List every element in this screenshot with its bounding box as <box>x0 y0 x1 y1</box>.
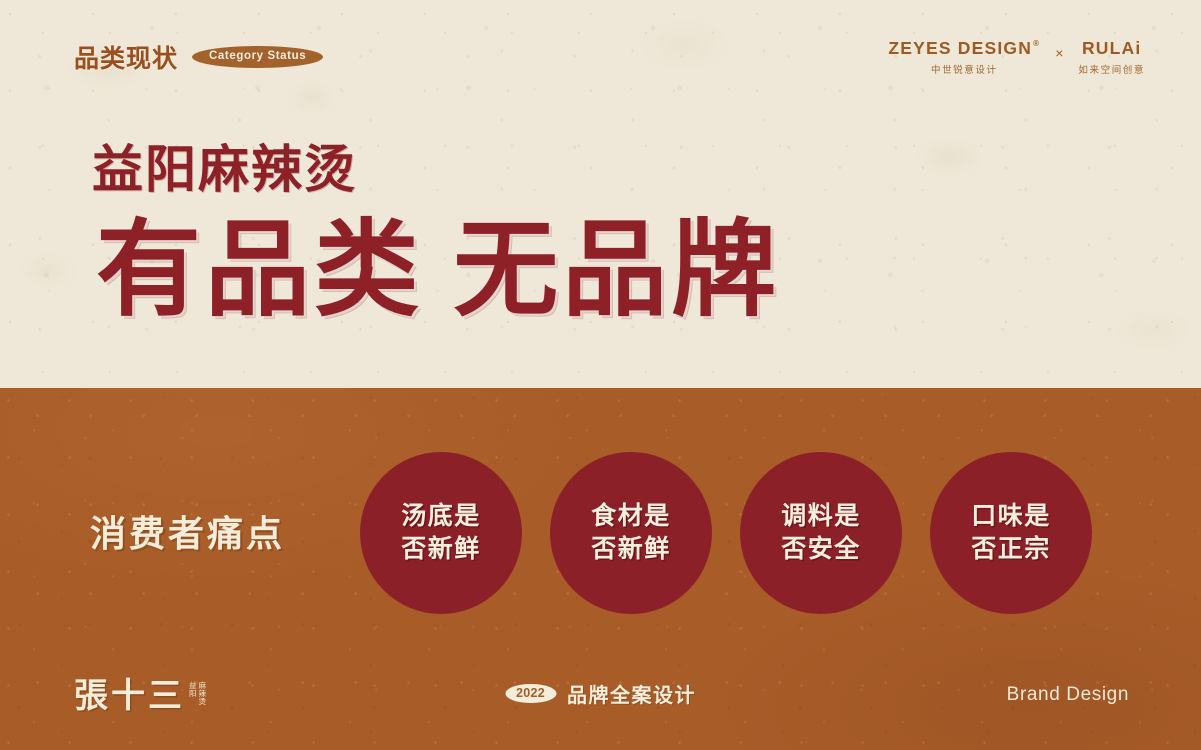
logo-lockup: ZEYES DESIGN ® 中世锐意设计 × RULAi 如来空间创意 <box>888 40 1145 76</box>
hero-headline: 有品类 无品牌 <box>96 218 780 323</box>
pain-point-circle: 汤底是 否新鲜 <box>360 452 522 614</box>
footer-year-badge: 2022 <box>505 684 556 704</box>
logo-cross-separator-icon: × <box>1055 45 1063 70</box>
footer-center-group: 2022 品牌全案设计 <box>505 679 696 708</box>
pain-point-line-1: 调料是 <box>781 500 861 533</box>
pain-point-circle: 调料是 否安全 <box>740 452 902 614</box>
pain-points-circle-group: 汤底是 否新鲜 食材是 否新鲜 调料是 否安全 口味是 否正宗 <box>360 452 1092 614</box>
pain-point-line-1: 汤底是 <box>401 500 481 533</box>
brand-logo-text: 張十三 <box>74 680 185 714</box>
logo-rulai-subtitle: 如来空间创意 <box>1078 62 1145 76</box>
brand-logo-vertical-tagline: 益阳 麻辣烫 <box>189 682 206 706</box>
footer-right-label: Brand Design <box>1007 684 1129 706</box>
brand-tagline-column-1: 益阳 <box>189 682 197 706</box>
footer-center-label: 品牌全案设计 <box>567 679 696 708</box>
logo-zeyes-wordmark: ZEYES DESIGN ® <box>888 40 1040 58</box>
pain-point-line-1: 食材是 <box>591 500 671 533</box>
pain-points-label: 消费者痛点 <box>90 505 285 557</box>
pain-point-line-2: 否新鲜 <box>591 533 671 566</box>
logo-zeyes-subtitle: 中世锐意设计 <box>931 62 998 76</box>
registered-trademark-icon: ® <box>1033 40 1040 48</box>
hero-subtitle: 益阳麻辣烫 <box>92 128 357 202</box>
pain-point-line-2: 否正宗 <box>971 533 1051 566</box>
kicker-english-badge: Category Status <box>192 46 323 69</box>
slide-header: 品类现状 Category Status ZEYES DESIGN ® 中世锐意… <box>0 0 1201 104</box>
logo-rulai-wordmark: RULAi <box>1082 40 1141 58</box>
kicker-chinese-label: 品类现状 <box>74 39 178 75</box>
logo-zeyes: ZEYES DESIGN ® 中世锐意设计 <box>888 40 1040 76</box>
brand-logo-zhangshisan: 張十三 益阳 麻辣烫 <box>74 680 206 714</box>
pain-point-line-2: 否新鲜 <box>401 533 481 566</box>
slide-root: 品类现状 Category Status ZEYES DESIGN ® 中世锐意… <box>0 0 1201 750</box>
brand-tagline-column-2: 麻辣烫 <box>199 682 207 706</box>
pain-point-line-1: 口味是 <box>971 500 1051 533</box>
slide-footer: 張十三 益阳 麻辣烫 2022 品牌全案设计 Brand Design <box>0 654 1201 750</box>
pain-point-circle: 口味是 否正宗 <box>930 452 1092 614</box>
pain-point-line-2: 否安全 <box>781 533 861 566</box>
section-kicker: 品类现状 Category Status <box>74 39 323 75</box>
pain-point-circle: 食材是 否新鲜 <box>550 452 712 614</box>
logo-rulai: RULAi 如来空间创意 <box>1078 40 1145 76</box>
logo-zeyes-text: ZEYES DESIGN <box>888 40 1032 58</box>
